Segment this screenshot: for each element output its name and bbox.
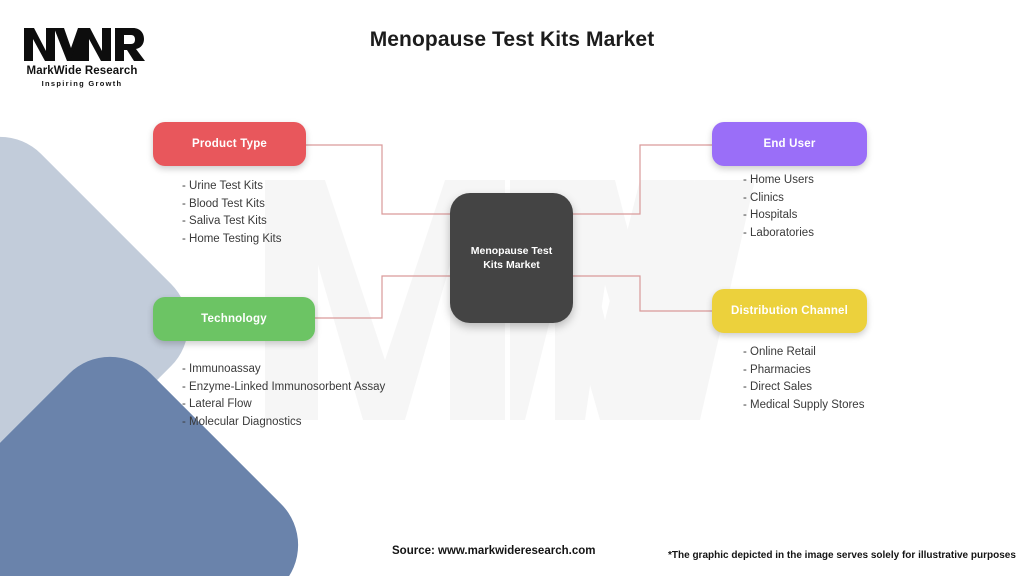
node-distribution-channel-label: Distribution Channel — [731, 305, 848, 317]
node-product-type[interactable]: Product Type — [153, 122, 306, 166]
disclaimer-text: *The graphic depicted in the image serve… — [668, 550, 1016, 561]
infographic-canvas: MarkWide Research Inspiring Growth Menop… — [0, 0, 1024, 576]
center-node-label: Menopause Test Kits Market — [460, 244, 563, 272]
list-item: - Laboratories — [743, 225, 814, 243]
list-end-user: - Home Users - Clinics - Hospitals - Lab… — [743, 172, 814, 242]
list-item: - Home Testing Kits — [182, 231, 282, 249]
list-item: - Direct Sales — [743, 379, 864, 397]
list-item: - Home Users — [743, 172, 814, 190]
source-text: Source: www.markwideresearch.com — [392, 545, 595, 557]
list-item: - Blood Test Kits — [182, 196, 282, 214]
list-distribution-channel: - Online Retail - Pharmacies - Direct Sa… — [743, 344, 864, 414]
list-item: - Online Retail — [743, 344, 864, 362]
node-technology-label: Technology — [201, 313, 267, 325]
list-item: - Urine Test Kits — [182, 178, 282, 196]
connector-end-user — [573, 145, 712, 214]
connector-technology — [315, 276, 450, 318]
list-item: - Molecular Diagnostics — [182, 414, 385, 432]
node-end-user-label: End User — [763, 138, 815, 150]
node-end-user[interactable]: End User — [712, 122, 867, 166]
list-item: - Pharmacies — [743, 362, 864, 380]
node-product-type-label: Product Type — [192, 138, 267, 150]
connector-distribution-channel — [573, 276, 712, 311]
list-item: - Lateral Flow — [182, 396, 385, 414]
center-node[interactable]: Menopause Test Kits Market — [450, 193, 573, 323]
list-technology: - Immunoassay - Enzyme-Linked Immunosorb… — [182, 361, 385, 431]
list-item: - Saliva Test Kits — [182, 213, 282, 231]
list-product-type: - Urine Test Kits - Blood Test Kits - Sa… — [182, 178, 282, 248]
list-item: - Hospitals — [743, 207, 814, 225]
list-item: - Clinics — [743, 190, 814, 208]
connector-product-type — [306, 145, 450, 214]
node-technology[interactable]: Technology — [153, 297, 315, 341]
list-item: - Enzyme-Linked Immunosorbent Assay — [182, 379, 385, 397]
node-distribution-channel[interactable]: Distribution Channel — [712, 289, 867, 333]
list-item: - Medical Supply Stores — [743, 397, 864, 415]
list-item: - Immunoassay — [182, 361, 385, 379]
